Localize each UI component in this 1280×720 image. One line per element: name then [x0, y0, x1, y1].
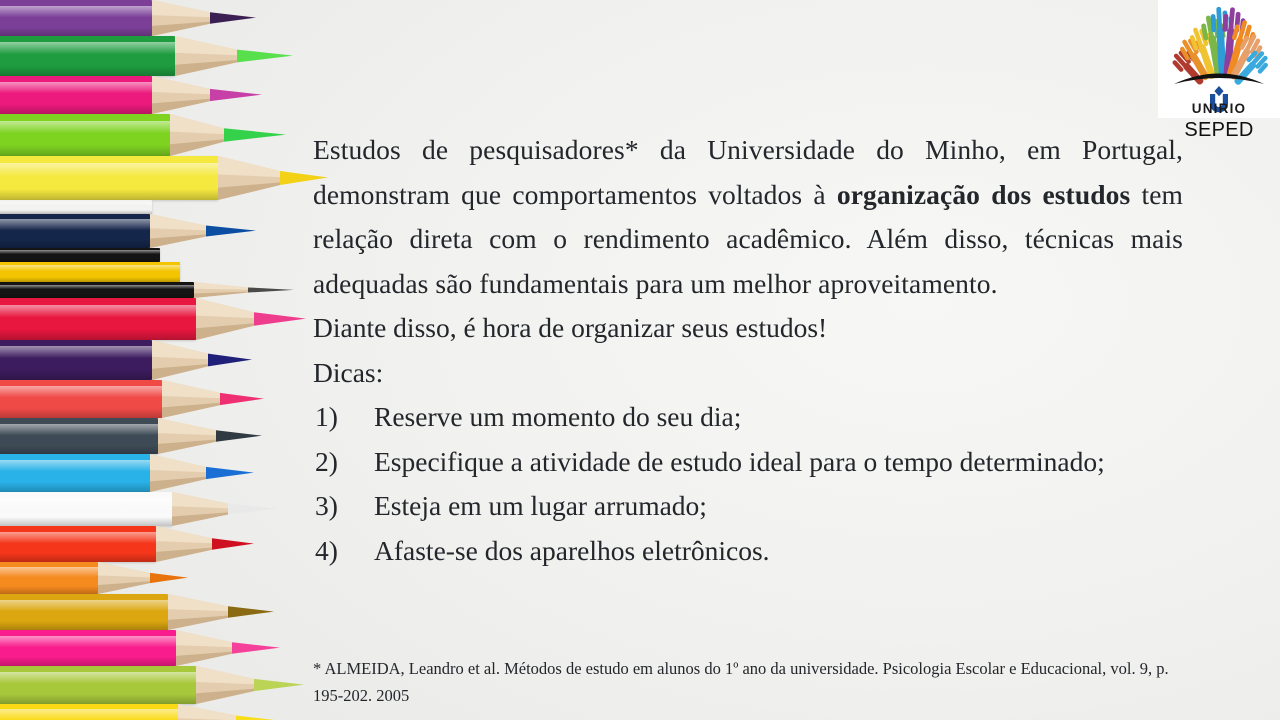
pencil-lead-tip: [150, 562, 188, 594]
pencil: [0, 282, 294, 298]
pencil-wood-cone: [158, 418, 216, 454]
pencil: [0, 214, 256, 248]
pencil: [0, 340, 252, 380]
pencil-wood-cone: [172, 492, 228, 526]
pencil-wood-cone: [218, 156, 280, 200]
pencil-wood-cone: [170, 114, 224, 156]
pencil-barrel: [0, 282, 194, 298]
pencil: [0, 562, 188, 594]
tip-marker: 4): [313, 529, 374, 574]
tip-text: Especifique a atividade de estudo ideal …: [374, 440, 1183, 485]
pencil: [0, 630, 280, 666]
unirio-wordmark: UNIRIO: [1192, 101, 1246, 116]
pencil-barrel: [0, 214, 150, 248]
tip-marker: 3): [313, 484, 374, 529]
pencil-wood-cone: [150, 454, 206, 492]
pencil-barrel: [0, 492, 172, 526]
pencil-wood-cone: [150, 214, 206, 248]
pencil-barrel: [0, 248, 160, 262]
pencil-wood-cone: [162, 380, 220, 418]
slide-body-text: Estudos de pesquisadores* da Universidad…: [313, 128, 1183, 573]
pencil-wood-cone: [194, 282, 248, 298]
pencil-wood-cone: [152, 340, 208, 380]
pencil: [0, 418, 262, 454]
pencil-barrel: [0, 114, 170, 156]
pencil-lead-tip: [254, 666, 304, 704]
tip-item: 2)Especifique a atividade de estudo idea…: [313, 440, 1183, 485]
highlight-phrase: organização dos estudos: [837, 179, 1130, 210]
pencil-barrel: [0, 76, 152, 114]
tip-item: 1)Reserve um momento do seu dia;: [313, 395, 1183, 440]
pencil-lead-tip: [232, 630, 280, 666]
pencil-lead-tip: [228, 594, 274, 630]
pencil: [0, 36, 293, 76]
slide-canvas: Estudos de pesquisadores* da Universidad…: [0, 0, 1280, 720]
pencil: [0, 704, 280, 720]
pencil-barrel: [0, 418, 158, 454]
pencil-lead-tip: [216, 418, 262, 454]
tips-header: Dicas:: [313, 351, 1183, 396]
pencil: [0, 156, 328, 200]
pencil: [0, 0, 256, 36]
pencil: [0, 666, 304, 704]
pencil-lead-tip: [224, 114, 286, 156]
pencil-lead-tip: [206, 214, 256, 248]
pencil-lead-tip: [236, 704, 280, 720]
colored-pencils-decoration: [0, 0, 330, 720]
tips-list: 1)Reserve um momento do seu dia;2)Especi…: [313, 395, 1183, 573]
pencil: [0, 114, 286, 156]
pencil-barrel: [0, 262, 180, 282]
pencil-wood-cone: [156, 526, 212, 562]
pencil-wood-cone: [178, 704, 236, 720]
tip-marker: 2): [313, 440, 374, 485]
call-to-action-line: Diante disso, é hora de organizar seus e…: [313, 306, 1183, 351]
pencil-wood-cone: [175, 36, 237, 76]
pencil: [0, 248, 160, 262]
pencil: [0, 200, 152, 214]
pencil-barrel: [0, 594, 168, 630]
pencil-wood-cone: [168, 594, 228, 630]
pencil: [0, 526, 254, 562]
pencil-lead-tip: [237, 36, 293, 76]
pencil: [0, 76, 262, 114]
pencil-wood-cone: [152, 0, 210, 36]
tip-marker: 1): [313, 395, 374, 440]
pencil-barrel: [0, 200, 152, 214]
pencil-wood-cone: [196, 298, 254, 340]
pencil-barrel: [0, 36, 175, 76]
pencil-barrel: [0, 630, 176, 666]
pencil-lead-tip: [210, 76, 262, 114]
pencil-wood-cone: [196, 666, 254, 704]
pencil: [0, 380, 264, 418]
pencil: [0, 298, 306, 340]
pencil-wood-cone: [152, 76, 210, 114]
pencil-lead-tip: [254, 298, 306, 340]
pencil-lead-tip: [210, 0, 256, 36]
citation-footnote: * ALMEIDA, Leandro et al. Métodos de est…: [313, 655, 1193, 709]
pencil-lead-tip: [220, 380, 264, 418]
pencil-lead-tip: [206, 454, 254, 492]
pencil-barrel: [0, 0, 152, 36]
pencil-wood-cone: [176, 630, 232, 666]
unirio-logo: UNIRIO: [1158, 0, 1280, 118]
intro-paragraph: Estudos de pesquisadores* da Universidad…: [313, 128, 1183, 306]
tip-item: 3)Esteja em um lugar arrumado;: [313, 484, 1183, 529]
pencil-barrel: [0, 526, 156, 562]
pencil-barrel: [0, 340, 152, 380]
tip-text: Afaste-se dos aparelhos eletrônicos.: [374, 529, 1183, 574]
pencil-barrel: [0, 666, 196, 704]
pencil-wood-cone: [98, 562, 150, 594]
pencil-lead-tip: [208, 340, 252, 380]
pencil: [0, 262, 180, 282]
pencil-barrel: [0, 380, 162, 418]
tip-text: Reserve um momento do seu dia;: [374, 395, 1183, 440]
pencil: [0, 492, 278, 526]
pencil-barrel: [0, 156, 218, 200]
pencil-lead-tip: [248, 282, 294, 298]
pencil-lead-tip: [228, 492, 278, 526]
pencil: [0, 454, 254, 492]
pencil-barrel: [0, 298, 196, 340]
pencil: [0, 594, 274, 630]
tip-item: 4)Afaste-se dos aparelhos eletrônicos.: [313, 529, 1183, 574]
seped-label: SEPED: [1158, 119, 1280, 142]
pencil-barrel: [0, 454, 150, 492]
pencil-barrel: [0, 704, 178, 720]
pencil-lead-tip: [212, 526, 254, 562]
tip-text: Esteja em um lugar arrumado;: [374, 484, 1183, 529]
pencil-barrel: [0, 562, 98, 594]
